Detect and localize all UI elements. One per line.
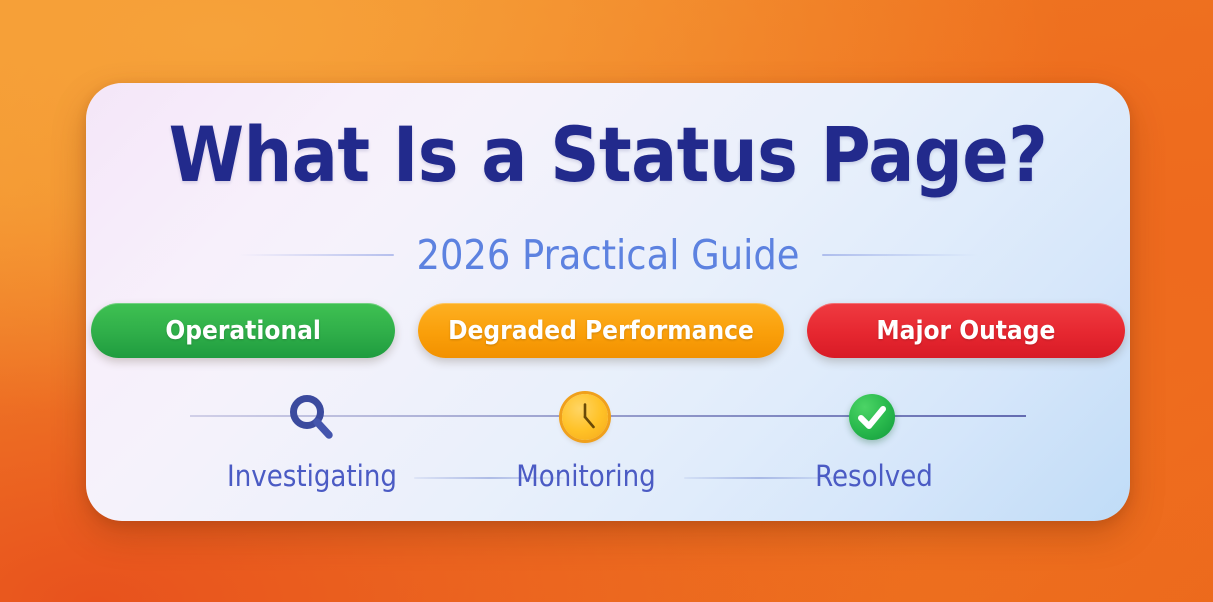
timeline-node-investigating[interactable]	[284, 389, 340, 445]
timeline-node-resolved[interactable]	[844, 389, 900, 445]
poster-stage: What Is a Status Page? 2026 Practical Gu…	[0, 0, 1213, 602]
incident-timeline: Investigating Monitoring Resolved	[86, 379, 1130, 509]
timeline-label-investigating: Investigating	[227, 459, 397, 493]
timeline-label-resolved: Resolved	[815, 459, 933, 493]
status-badge-degraded[interactable]: Degraded Performance	[418, 303, 784, 358]
timeline-node-monitoring[interactable]	[557, 389, 613, 445]
timeline-labels: Investigating Monitoring Resolved	[86, 459, 1130, 501]
page-subtitle: 2026 Practical Guide	[416, 231, 799, 279]
clock-icon	[562, 394, 608, 440]
subtitle-row: 2026 Practical Guide	[86, 231, 1130, 279]
timeline-label-monitoring: Monitoring	[516, 459, 656, 493]
status-pill-row: Operational Degraded Performance Major O…	[86, 303, 1130, 358]
subtitle-rule-right	[822, 254, 978, 256]
page-title: What Is a Status Page?	[86, 110, 1130, 199]
timeline-connector-2	[684, 477, 834, 479]
timeline-nodes	[86, 379, 1130, 457]
status-page-card: What Is a Status Page? 2026 Practical Gu…	[86, 83, 1130, 521]
check-circle-icon	[849, 394, 895, 440]
status-badge-outage[interactable]: Major Outage	[807, 303, 1125, 358]
subtitle-rule-left	[238, 254, 394, 256]
status-badge-operational[interactable]: Operational	[91, 303, 395, 358]
magnifier-icon	[286, 391, 338, 443]
